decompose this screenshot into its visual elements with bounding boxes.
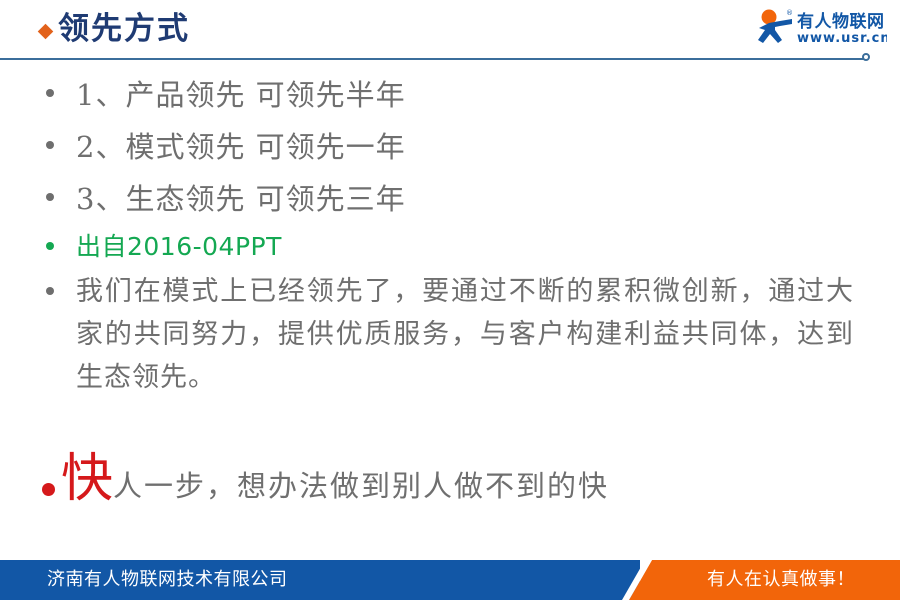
bullet-dot-icon [46, 89, 54, 97]
diamond-bullet-icon [38, 23, 54, 39]
page-title: 领先方式 [40, 8, 190, 50]
logo-figure-body-icon [758, 19, 792, 43]
bullet-dot-icon [46, 193, 54, 201]
list-item: 3、生态领先 可领先三年 [0, 174, 900, 224]
list-item-source: 出自2016-04PPT [0, 226, 900, 268]
logo-registered-mark: ® [786, 9, 793, 17]
bullet-dot-icon [46, 141, 54, 149]
footer-company-name: 济南有人物联网技术有限公司 [47, 560, 288, 600]
bullet-dot-icon [46, 242, 54, 250]
slide-body: 1、产品领先 可领先半年 2、模式领先 可领先一年 3、生态领先 可领先三年 出… [0, 70, 900, 514]
emphasis-rest-text: 人一步，想办法做到别人做不到的快 [113, 458, 609, 514]
list-item: 2、模式领先 可领先一年 [0, 122, 900, 172]
list-item-text: 1、产品领先 可领先半年 [76, 70, 406, 120]
list-item-text: 2、模式领先 可领先一年 [76, 122, 406, 172]
slide-footer: 济南有人物联网技术有限公司 有人在认真做事！ [0, 560, 900, 600]
slide: 领先方式 ® 有人物联网 www.usr.cn 1、产品领先 可领先半年 2、模… [0, 0, 900, 600]
slide-header: 领先方式 ® 有人物联网 www.usr.cn [0, 0, 900, 62]
list-item-paragraph: 我们在模式上已经领先了，要通过不断的累积微创新，通过大家的共同努力，提供优质服务… [0, 270, 900, 399]
emphasis-lead-char: 快 [61, 451, 113, 507]
list-item-source-text: 出自2016-04PPT [76, 226, 282, 268]
logo-website: www.usr.cn [797, 31, 887, 46]
page-title-text: 领先方式 [58, 8, 190, 50]
logo-name-cn: 有人物联网 [797, 11, 885, 32]
header-divider [0, 58, 866, 60]
list-item-text: 3、生态领先 可领先三年 [76, 174, 406, 224]
list-item-paragraph-text: 我们在模式上已经领先了，要通过不断的累积微创新，通过大家的共同努力，提供优质服务… [76, 270, 854, 399]
header-divider-endpoint-icon [862, 53, 870, 61]
bullet-dot-icon [42, 483, 55, 496]
company-logo: ® 有人物联网 www.usr.cn [747, 6, 887, 48]
footer-slogan: 有人在认真做事！ [707, 560, 855, 600]
bullet-dot-icon [46, 287, 54, 295]
emphasis-line: 快 人一步，想办法做到别人做不到的快 [0, 451, 900, 514]
list-item: 1、产品领先 可领先半年 [0, 70, 900, 120]
